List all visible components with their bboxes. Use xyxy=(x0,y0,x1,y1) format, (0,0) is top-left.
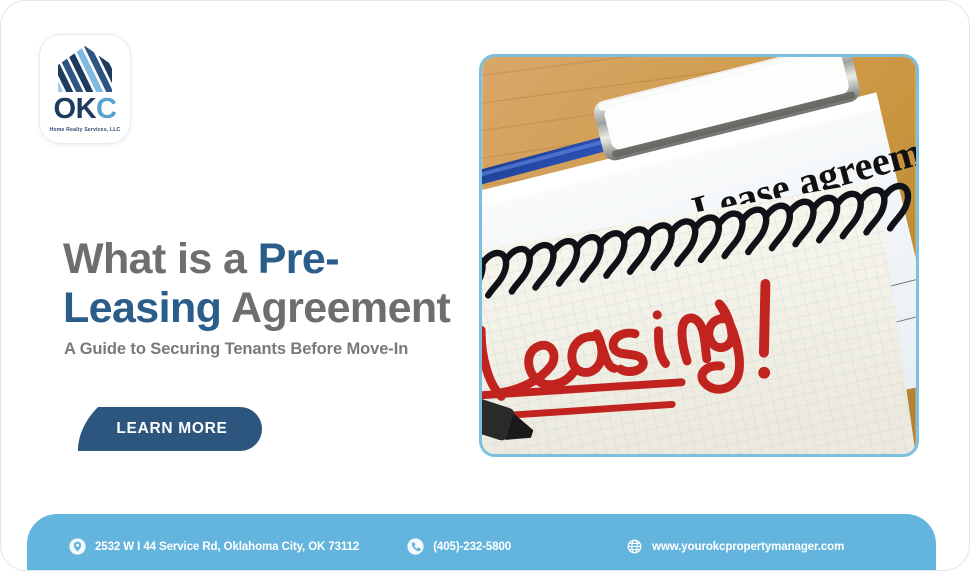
footer-website[interactable]: www.yourokcpropertymanager.com xyxy=(626,538,844,555)
headline-accent-1: Pre- xyxy=(258,235,339,283)
page-subtitle: A Guide to Securing Tenants Before Move-… xyxy=(64,340,408,359)
brand-logo[interactable]: OKC Home Realty Services, LLC xyxy=(39,34,131,144)
footer-website-text: www.yourokcpropertymanager.com xyxy=(652,541,844,553)
footer-phone-text: (405)-232-5800 xyxy=(433,541,511,553)
footer-address[interactable]: 2532 W I 44 Service Rd, Oklahoma City, O… xyxy=(69,538,359,555)
lease-agreement-photo: Lease agreement nation agreement made be… xyxy=(482,57,916,454)
learn-more-button[interactable]: LEARN MORE xyxy=(76,407,262,451)
contact-footer: 2532 W I 44 Service Rd, Oklahoma City, O… xyxy=(27,514,936,571)
phone-icon xyxy=(407,538,424,555)
learn-more-label[interactable]: LEARN MORE xyxy=(76,407,262,451)
headline-accent-2: Leasing xyxy=(63,284,221,332)
brand-tagline: Home Realty Services, LLC xyxy=(50,127,121,133)
page-title: What is a Pre-Leasing Agreement xyxy=(63,235,493,333)
headline-plain-1: What is a xyxy=(63,235,258,283)
promo-banner: OKC Home Realty Services, LLC What is a … xyxy=(0,0,970,571)
hero-image: Lease agreement nation agreement made be… xyxy=(479,54,919,457)
brand-name: OKC xyxy=(54,95,117,124)
footer-phone[interactable]: (405)-232-5800 xyxy=(407,538,511,555)
house-stripes-logo-icon xyxy=(55,44,115,94)
location-pin-icon xyxy=(69,538,86,555)
headline-plain-2: Agreement xyxy=(221,284,450,332)
footer-address-text: 2532 W I 44 Service Rd, Oklahoma City, O… xyxy=(95,541,359,553)
globe-icon xyxy=(626,538,643,555)
